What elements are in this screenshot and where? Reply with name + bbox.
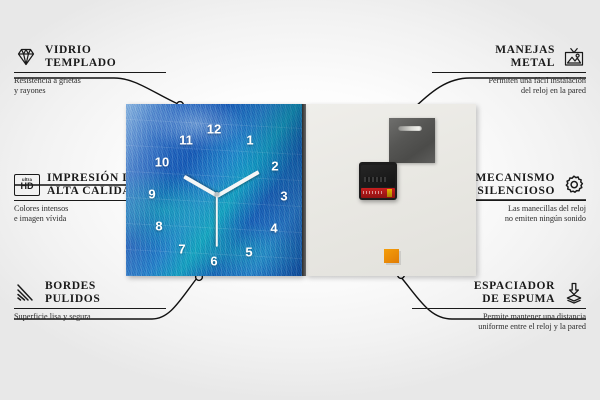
foam-spacer-icon — [562, 281, 586, 305]
feature-description: Superficie lisa y segura — [14, 312, 166, 322]
clock-numeral-9: 9 — [148, 188, 155, 201]
feature-manejas-metal[interactable]: MANEJAS METAL Permiten una fácil instala… — [432, 44, 586, 96]
clock-numeral-5: 5 — [245, 246, 252, 259]
ultra-hd-badge-icon: ultra HD — [14, 174, 40, 196]
feature-divider — [14, 308, 166, 309]
feature-title-line2: SILENCIOSO — [475, 185, 555, 198]
clock-numeral-6: 6 — [210, 255, 217, 268]
feature-title-line2: TEMPLADO — [45, 57, 116, 70]
clock-center-hub — [215, 192, 219, 196]
clock-numeral-11: 11 — [179, 134, 193, 147]
feature-title-line1: ESPACIADOR — [474, 280, 555, 293]
feature-divider — [412, 308, 586, 309]
polished-edges-icon — [14, 281, 38, 305]
clock-numeral-2: 2 — [271, 160, 278, 173]
feature-title-line1: VIDRIO — [45, 44, 116, 57]
feature-divider — [432, 72, 586, 73]
feature-bordes-pulidos[interactable]: BORDES PULIDOS Superficie lisa y segura — [14, 280, 166, 322]
feature-title-line2: PULIDOS — [45, 293, 100, 306]
feature-desc-line1: Resistencia a grietas — [14, 76, 166, 86]
feature-desc-line2: y rayones — [14, 86, 166, 96]
feature-desc-line1: Permiten una fácil instalación — [432, 76, 586, 86]
metal-hanger-plate — [389, 118, 435, 163]
clock-numeral-3: 3 — [280, 190, 287, 203]
clock-second-hand — [216, 195, 218, 247]
feature-title-line1: MECANISMO — [475, 172, 555, 185]
clock-numeral-7: 7 — [178, 243, 185, 256]
orange-foam-spacer — [384, 249, 399, 263]
mechanism-body — [361, 165, 395, 187]
feature-desc-line1: Superficie lisa y segura — [14, 312, 166, 322]
feature-header: ESPACIADOR DE ESPUMA — [412, 280, 586, 305]
clock-numeral-10: 10 — [155, 156, 169, 169]
feature-header: VIDRIO TEMPLADO — [14, 44, 166, 69]
feature-title-line2: METAL — [495, 57, 555, 70]
hd-badge-large-text: HD — [21, 182, 34, 191]
clock-panel-edge — [302, 104, 306, 276]
clock-numeral-8: 8 — [155, 220, 162, 233]
feature-header: BORDES PULIDOS — [14, 280, 166, 305]
feature-title: ESPACIADOR DE ESPUMA — [474, 280, 555, 305]
feature-vidrio-templado[interactable]: VIDRIO TEMPLADO Resistencia a grietas y … — [14, 44, 166, 96]
clock-numeral-1: 1 — [246, 134, 253, 147]
hanging-frame-icon — [562, 45, 586, 69]
mechanism-battery-label — [361, 188, 395, 198]
feature-espaciador-espuma[interactable]: ESPACIADOR DE ESPUMA Permite mantener un… — [412, 280, 586, 332]
feature-description: Resistencia a grietas y rayones — [14, 76, 166, 96]
product-photo: 12 1 2 3 4 5 6 7 8 9 10 11 — [126, 104, 476, 276]
diamond-icon — [14, 45, 38, 69]
feature-title-line2: DE ESPUMA — [474, 293, 555, 306]
feature-description: Permite mantener una distancia uniforme … — [412, 312, 586, 332]
clock-back-panel — [305, 104, 476, 276]
feature-desc-line2: uniforme entre el reloj y la pared — [412, 322, 586, 332]
feature-title: MANEJAS METAL — [495, 44, 555, 69]
feature-title-line1: MANEJAS — [495, 44, 555, 57]
feature-desc-line1: Permite mantener una distancia — [412, 312, 586, 322]
feature-title: VIDRIO TEMPLADO — [45, 44, 116, 69]
feature-description: Permiten una fácil instalación del reloj… — [432, 76, 586, 96]
hanger-slot — [398, 126, 422, 131]
feature-title: MECANISMO SILENCIOSO — [475, 172, 555, 197]
clock-face-panel: 12 1 2 3 4 5 6 7 8 9 10 11 — [126, 104, 302, 276]
feature-title: BORDES PULIDOS — [45, 280, 100, 305]
quartz-clock-mechanism — [359, 162, 397, 200]
feature-header: MANEJAS METAL — [432, 44, 586, 69]
feature-desc-line2: del reloj en la pared — [432, 86, 586, 96]
product-infographic: VIDRIO TEMPLADO Resistencia a grietas y … — [0, 0, 600, 400]
clock-numeral-4: 4 — [270, 222, 277, 235]
clock-numeral-12: 12 — [207, 123, 221, 136]
gear-icon — [562, 173, 586, 197]
feature-title-line1: BORDES — [45, 280, 100, 293]
feature-divider — [14, 72, 166, 73]
